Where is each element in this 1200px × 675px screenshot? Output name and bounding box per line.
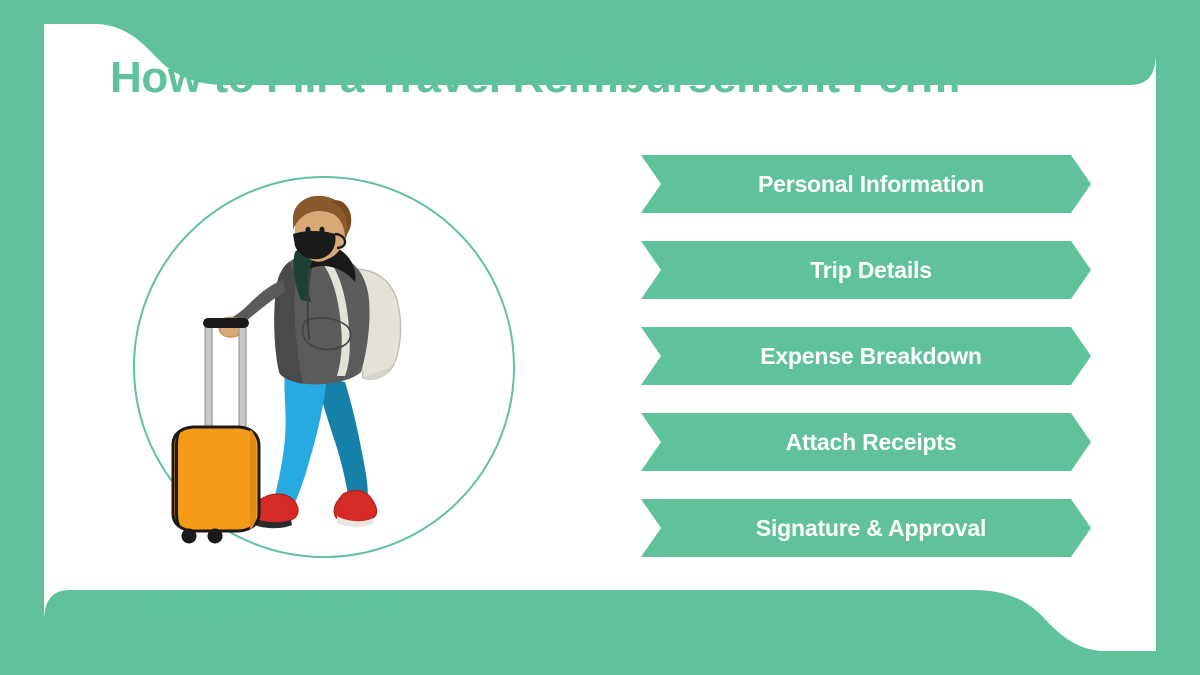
page-title: How to Fill a Travel Reimbursement Form (110, 53, 1130, 103)
infographic-poster: How to Fill a Travel Reimbursement Form (0, 0, 1200, 675)
step-label-4: Attach Receipts (776, 429, 957, 456)
step-label-5: Signature & Approval (746, 515, 986, 542)
step-banner-5[interactable]: Signature & Approval (641, 499, 1091, 557)
step-label-3: Expense Breakdown (750, 343, 982, 370)
step-banner-4[interactable]: Attach Receipts (641, 413, 1091, 471)
step-banner-3[interactable]: Expense Breakdown (641, 327, 1091, 385)
step-banner-1[interactable]: Personal Information (641, 155, 1091, 213)
step-label-2: Trip Details (800, 257, 932, 284)
masked-traveler-illustration (167, 196, 487, 546)
brand-wordmark: SampleForms.com (146, 588, 401, 621)
steps-list: Personal Information Trip Details Expens… (641, 155, 1091, 585)
step-label-1: Personal Information (748, 171, 984, 198)
illustration (133, 176, 515, 558)
step-banner-2[interactable]: Trip Details (641, 241, 1091, 299)
